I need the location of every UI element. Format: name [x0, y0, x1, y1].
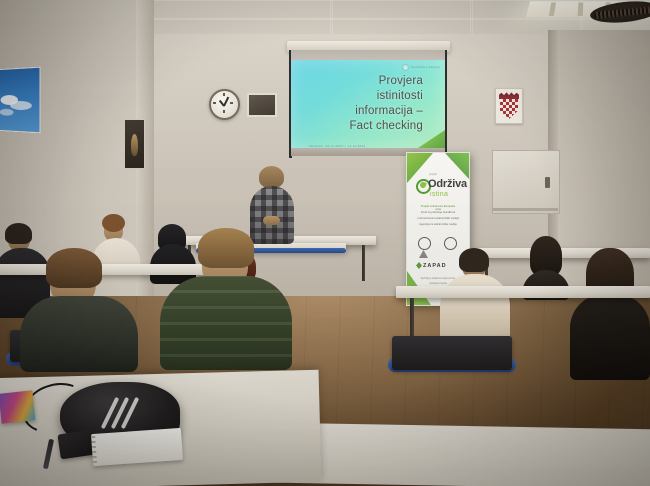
banner-leaf-top-right [445, 153, 469, 179]
colorful-book[interactable] [0, 390, 35, 423]
presenter-hair [259, 166, 284, 188]
student-front-left [20, 248, 138, 366]
student-hair [5, 223, 32, 244]
student-front-center [160, 228, 292, 368]
dark-framed-artwork [124, 119, 145, 169]
university-emblem-icon [402, 64, 409, 71]
student-hair [459, 248, 489, 272]
banner-kicker: projekt [429, 173, 437, 176]
classroom-photo: Sveučilište u Zagrebu Provjera istinitos… [0, 0, 650, 486]
banner-subtitle: istina [430, 191, 448, 198]
student-torso [20, 296, 138, 372]
sponsor-logo-right-icon [444, 237, 457, 250]
slide-title-line-2: istinitosti [299, 89, 423, 104]
front-desk-right [275, 423, 650, 486]
spiral-notebook[interactable] [91, 428, 183, 466]
student-torso [570, 294, 650, 380]
zapad-logo-icon [416, 262, 422, 269]
sponsor-logo-left-sub-icon [419, 250, 428, 258]
student-hair [198, 228, 254, 268]
notebook-rings [91, 436, 97, 464]
sponsor-logo-left-icon [418, 237, 431, 250]
wall-clock [209, 89, 240, 120]
banner-body-line-2: Fond za poticanje pluralizma [417, 211, 459, 215]
desk-leg [362, 245, 365, 281]
whiteboard-tray [492, 208, 558, 211]
slide-title-line-4: Fact checking [299, 119, 423, 134]
slide-title: Provjera istinitosti informacija – Fact … [299, 74, 423, 134]
student-hair-bun [102, 214, 125, 232]
student-torso [160, 276, 292, 370]
banner-body-line-3: i raznovrsnosti elektroničkih medija [417, 217, 459, 221]
slide-title-line-1: Provjera [299, 74, 423, 89]
slide-university-logo: Sveučilište u Zagrebu [402, 64, 440, 71]
desk-row-middle-right [396, 286, 650, 298]
projected-slide: Sveučilište u Zagrebu Provjera istinitos… [291, 60, 445, 150]
presenter-hands [263, 216, 280, 225]
chair-back-front-center[interactable] [392, 336, 512, 370]
blue-sky-poster [0, 67, 40, 134]
student-right-cream [440, 252, 510, 344]
whiteboard-marker[interactable] [545, 177, 550, 188]
slide-logo-label: Sveučilište u Zagrebu [411, 66, 440, 69]
student-hair [46, 248, 102, 288]
student-far-right [570, 248, 650, 378]
wall-panel [247, 93, 277, 117]
croatian-coat-of-arms [495, 88, 523, 124]
slide-title-line-3: informacija – [299, 104, 423, 119]
banner-title: Održiva [428, 178, 467, 190]
banner-body-line-4: Agencija za elektroničke medije [417, 223, 459, 227]
student-torso [440, 274, 510, 344]
